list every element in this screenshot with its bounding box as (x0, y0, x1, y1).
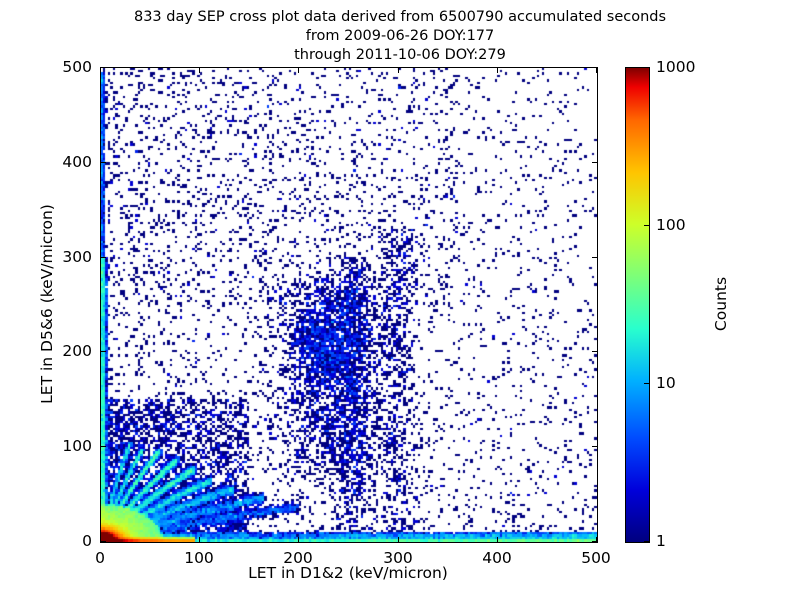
y-axis-tick (101, 541, 106, 542)
x-axis-tick-top (199, 68, 200, 73)
x-axis-tick (596, 537, 597, 542)
colorbar-tick (644, 225, 649, 226)
x-axis-tick-top (298, 68, 299, 73)
y-axis-tick-right (592, 351, 597, 352)
colorbar (625, 67, 650, 543)
y-axis-tick (101, 257, 106, 258)
x-axis-tick-top (100, 68, 101, 73)
colorbar-tick-label: 100 (656, 216, 686, 234)
x-axis-tick (298, 537, 299, 542)
y-axis-tick-right (592, 162, 597, 163)
y-axis-tick (101, 351, 106, 352)
colorbar-tick (644, 383, 649, 384)
y-axis-label: LET in D5&6 (keV/micron) (38, 67, 56, 541)
y-axis-tick (101, 162, 106, 163)
y-axis-tick (101, 67, 106, 68)
x-axis-tick (199, 537, 200, 542)
colorbar-tick-label: 1000 (656, 58, 695, 76)
title-line-1: 833 day SEP cross plot data derived from… (0, 8, 800, 27)
y-axis-tick-right (592, 257, 597, 258)
plot-axes-frame (100, 67, 598, 543)
colorbar-label: Counts (712, 67, 730, 541)
colorbar-tick-label: 1 (656, 532, 666, 550)
x-axis-tick (497, 537, 498, 542)
colorbar-gradient (626, 68, 649, 542)
x-axis-tick (398, 537, 399, 542)
x-axis-label: LET in D1&2 (keV/micron) (100, 564, 596, 582)
plot-title: 833 day SEP cross plot data derived from… (0, 8, 800, 65)
colorbar-tick (644, 541, 649, 542)
x-axis-tick (100, 537, 101, 542)
colorbar-tick (644, 67, 649, 68)
y-axis-tick (101, 446, 106, 447)
scatter-heatmap (101, 68, 597, 542)
x-axis-tick-top (497, 68, 498, 73)
x-axis-tick-top (596, 68, 597, 73)
figure-canvas: 833 day SEP cross plot data derived from… (0, 0, 800, 600)
colorbar-tick-label: 10 (656, 374, 676, 392)
y-axis-tick-right (592, 446, 597, 447)
x-axis-tick-top (398, 68, 399, 73)
title-line-2: from 2009-06-26 DOY:177 (0, 27, 800, 46)
